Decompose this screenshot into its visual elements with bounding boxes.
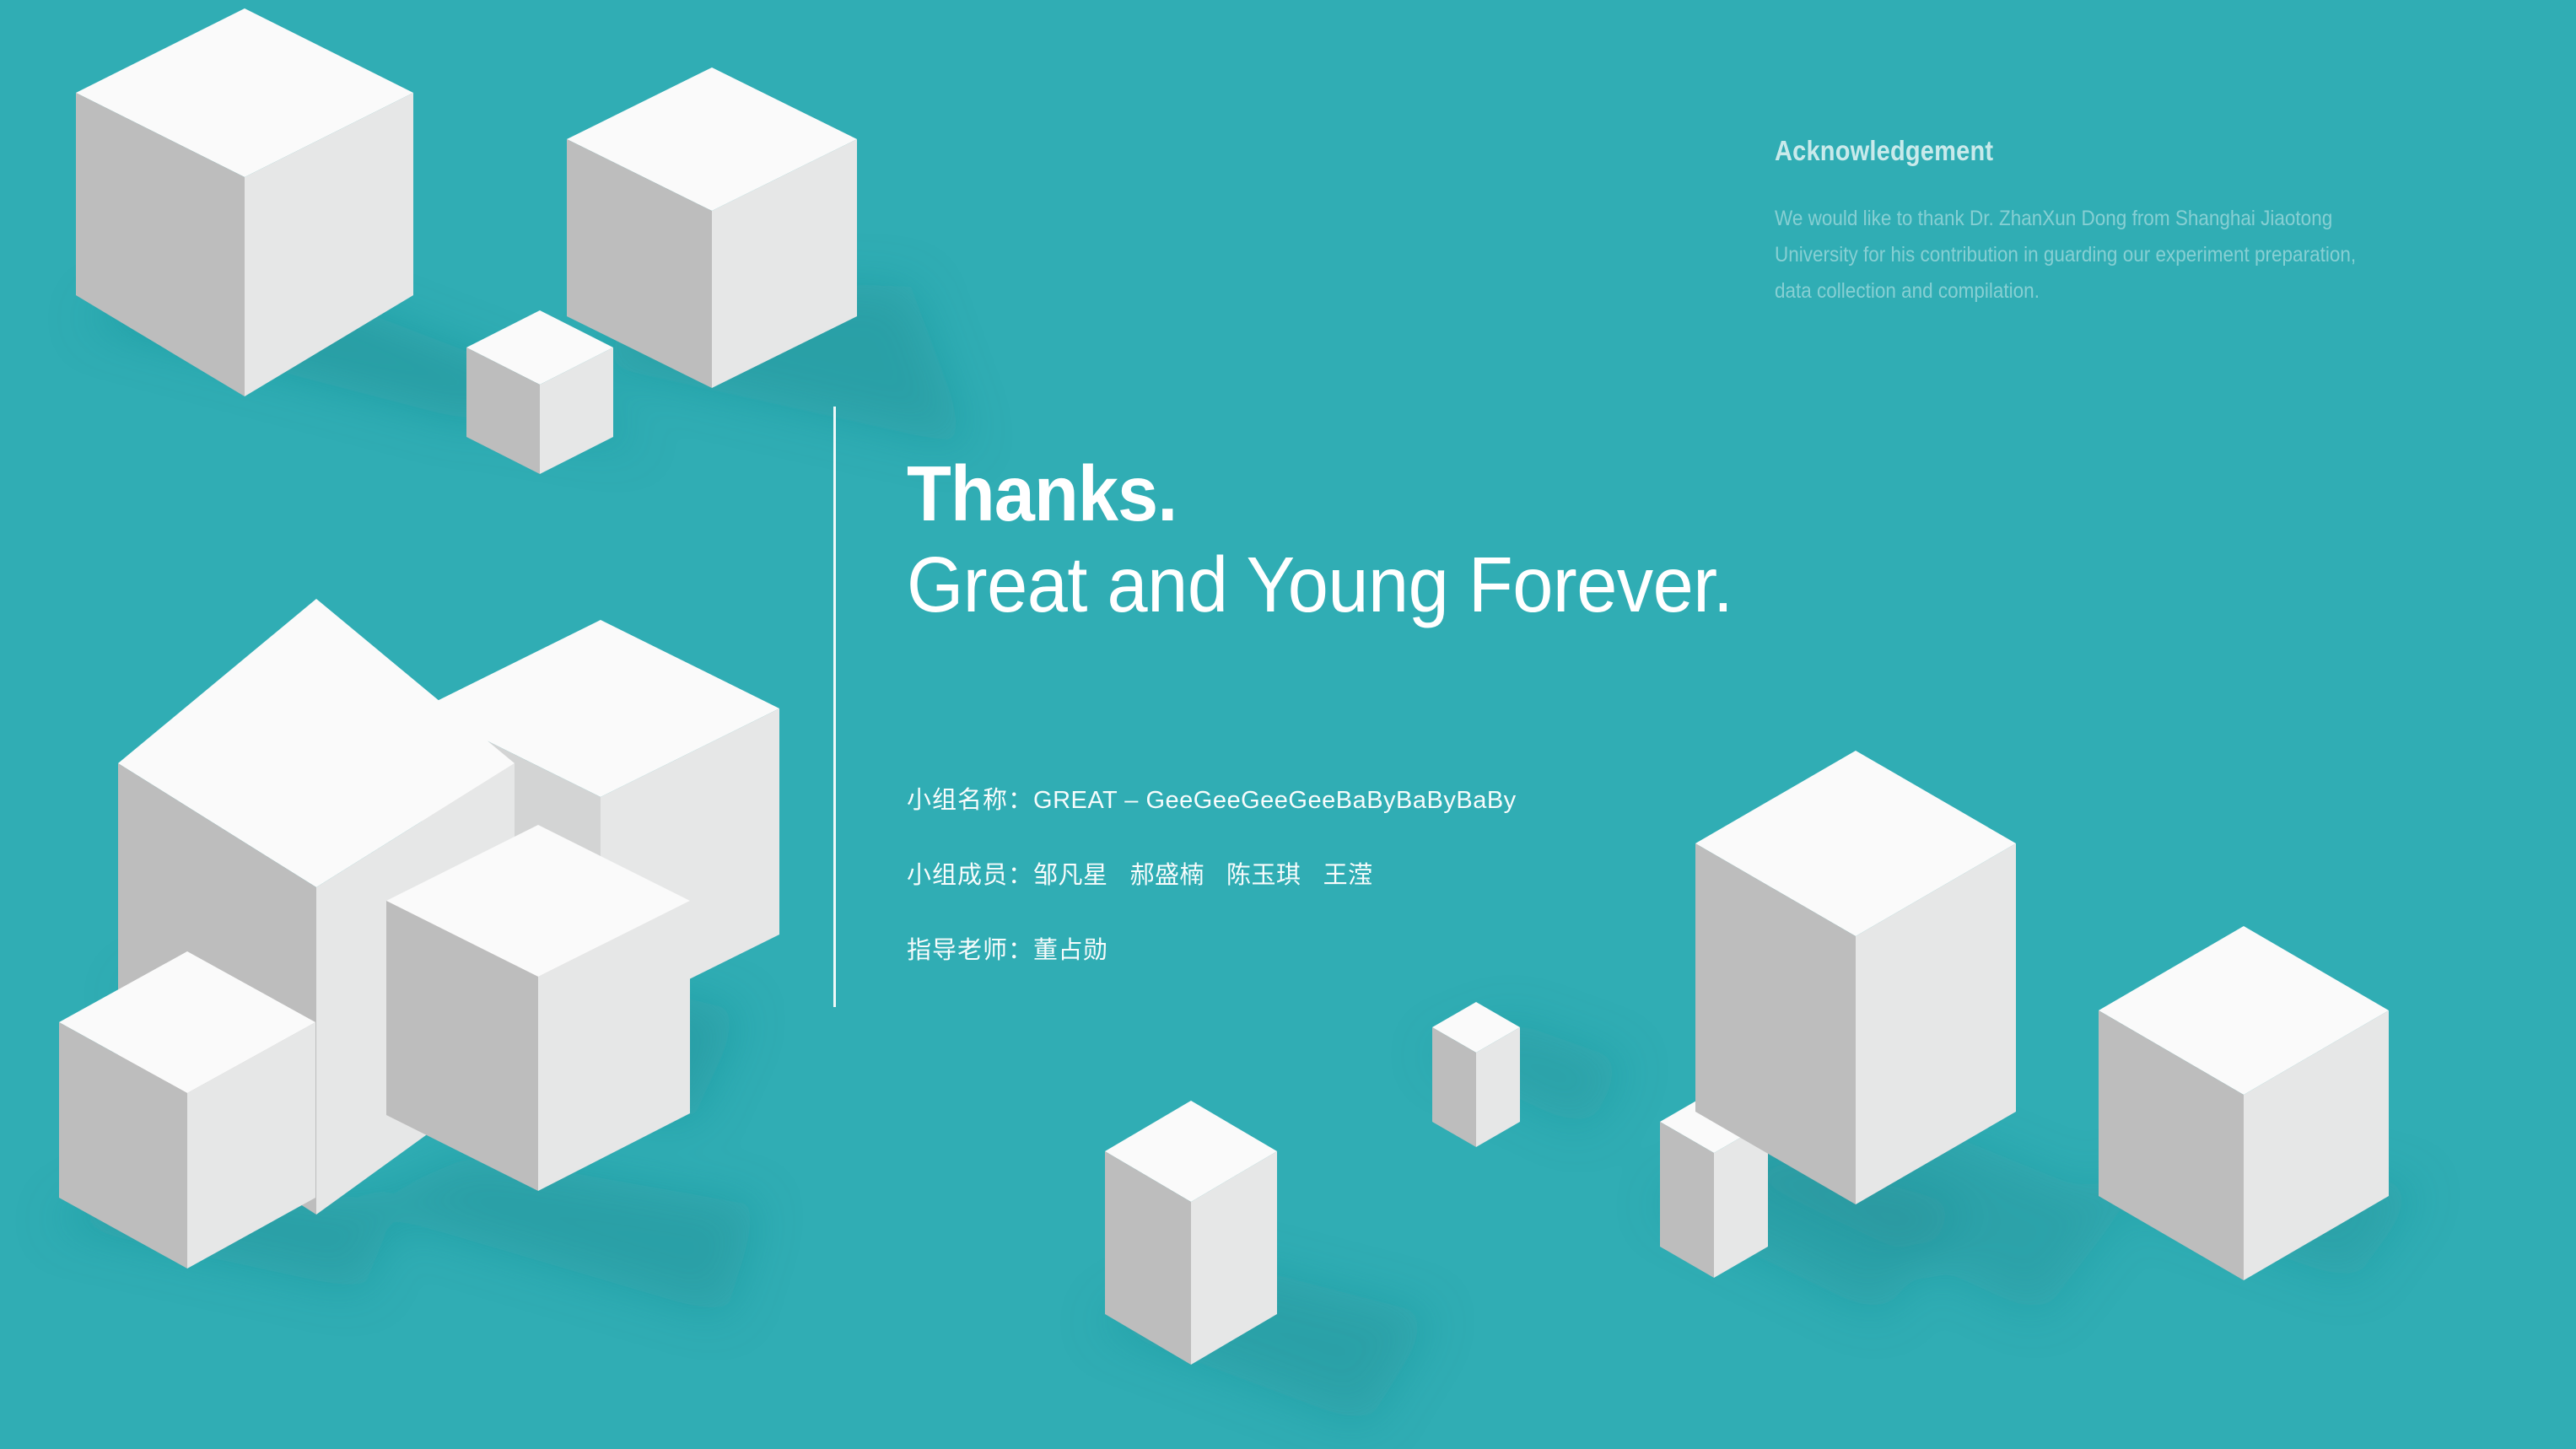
vertical-divider bbox=[833, 407, 836, 1007]
cube-right-small bbox=[1660, 1091, 1768, 1278]
cube-right-tall bbox=[1695, 751, 2016, 1204]
credit-member-3: 陈玉琪 bbox=[1226, 862, 1301, 889]
cube-left-cluster-rear bbox=[422, 620, 779, 1023]
cube-left-cluster-large bbox=[118, 599, 515, 1215]
presentation-slide: Acknowledgement We would like to thank D… bbox=[0, 0, 2576, 1449]
cube-top-left-large bbox=[76, 8, 413, 396]
credit-members: 小组成员：邹凡星郝盛楠陈玉琪王滢 bbox=[907, 864, 1517, 888]
credit-member-1: 邹凡星 bbox=[1033, 862, 1108, 889]
credit-group-name-label: 小组名称： bbox=[907, 787, 1033, 814]
credit-member-2: 郝盛楠 bbox=[1130, 862, 1205, 889]
cube-far-right bbox=[2099, 926, 2389, 1280]
acknowledgement-block: Acknowledgement We would like to thank D… bbox=[1775, 135, 2500, 310]
credits-block: 小组名称：GREAT – GeeGeeGeeGeeBaByBaByBaBy 小组… bbox=[907, 789, 1517, 963]
headline-block: Thanks. Great and Young Forever. bbox=[907, 454, 1795, 628]
credit-advisor: 指导老师：董占勋 bbox=[907, 939, 1517, 963]
credit-advisor-label: 指导老师： bbox=[907, 937, 1033, 964]
acknowledgement-body: We would like to thank Dr. ZhanXun Dong … bbox=[1775, 201, 2480, 310]
headline-primary: Thanks. bbox=[907, 454, 1733, 534]
cube-left-bottom-small bbox=[59, 951, 315, 1269]
acknowledgement-body-line-2: University for his contribution in guard… bbox=[1775, 237, 2480, 273]
headline-secondary: Great and Young Forever. bbox=[907, 541, 1733, 628]
credit-advisor-value: 董占勋 bbox=[1033, 937, 1108, 964]
acknowledgement-body-line-3: data collection and compilation. bbox=[1775, 273, 2480, 310]
cube-center-bottom bbox=[1105, 1101, 1277, 1365]
credit-group-name: 小组名称：GREAT – GeeGeeGeeGeeBaByBaByBaBy bbox=[907, 789, 1517, 813]
cube-left-cluster-medium bbox=[386, 825, 690, 1191]
acknowledgement-heading: Acknowledgement bbox=[1775, 135, 2413, 167]
acknowledgement-body-line-1: We would like to thank Dr. ZhanXun Dong … bbox=[1775, 201, 2480, 237]
cube-top-small bbox=[466, 310, 613, 474]
credit-group-name-value: GREAT – GeeGeeGeeGeeBaByBaByBaBy bbox=[1033, 787, 1517, 814]
credit-members-label: 小组成员： bbox=[907, 862, 1033, 889]
cube-top-second bbox=[567, 67, 857, 388]
credit-member-4: 王滢 bbox=[1323, 862, 1373, 889]
cube-mid-small bbox=[1432, 1002, 1520, 1147]
